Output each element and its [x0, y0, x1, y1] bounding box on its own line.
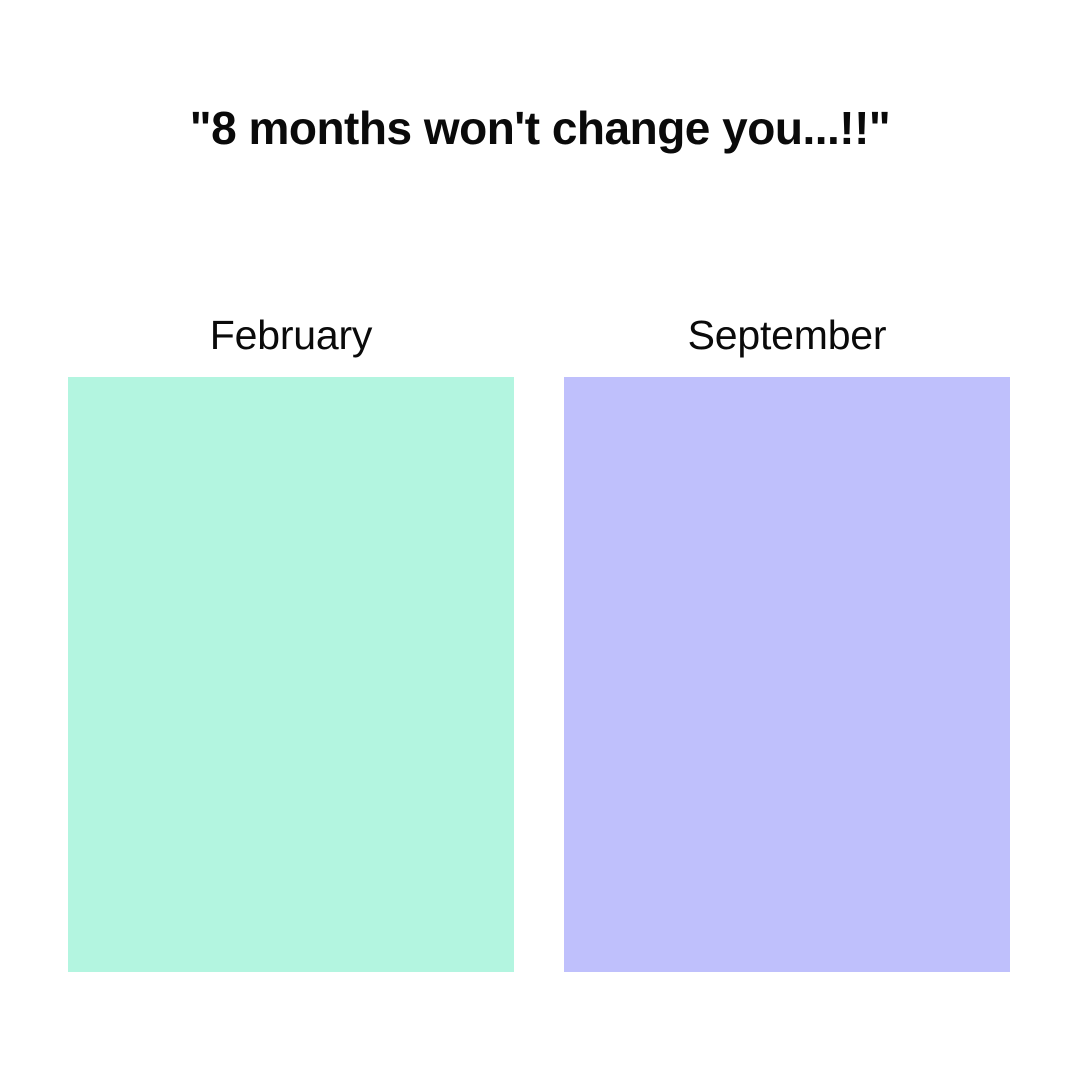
meme-canvas: "8 months won't change you...!!" Februar… [0, 0, 1080, 1080]
comparison-row: February September [68, 294, 1010, 972]
february-photo-panel [68, 377, 514, 972]
comparison-column-after: September [564, 294, 1010, 972]
column-label-september: September [688, 294, 887, 377]
comparison-column-before: February [68, 294, 514, 972]
column-label-february: February [210, 294, 372, 377]
meme-title: "8 months won't change you...!!" [0, 103, 1080, 155]
september-photo-panel [564, 377, 1010, 972]
